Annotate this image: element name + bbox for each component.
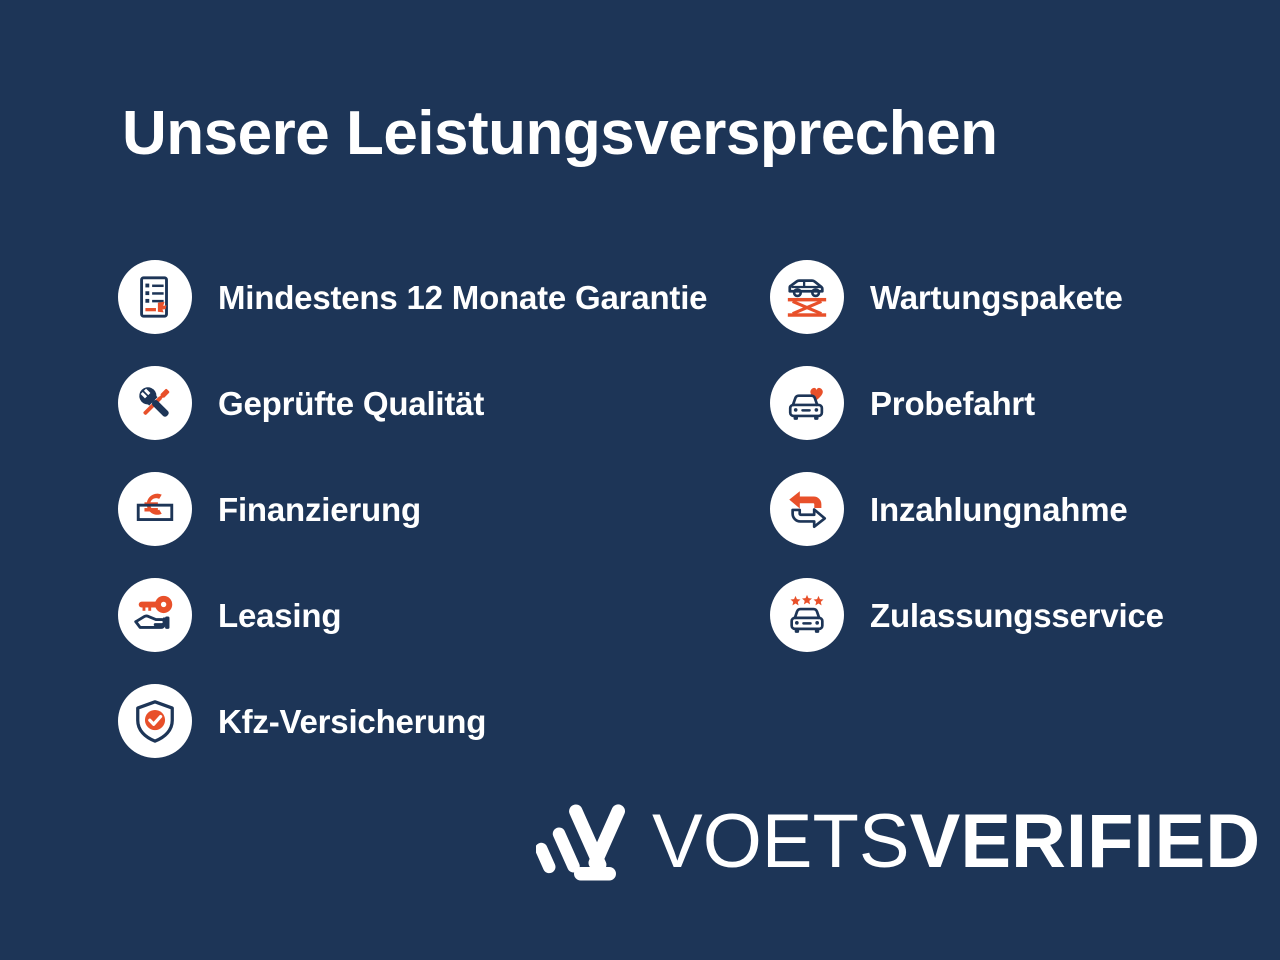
feature-item-probefahrt[interactable]: Probefahrt	[770, 364, 1230, 442]
euro-banknote-icon	[132, 486, 178, 532]
feature-item-leasing[interactable]: Leasing	[118, 576, 738, 654]
badge-garantie	[118, 260, 192, 334]
document-wrench-icon	[132, 274, 178, 320]
feature-grid: Mindestens 12 Monate Garantie	[0, 258, 1280, 788]
shield-check-icon	[132, 698, 178, 744]
feature-label-finanzierung: Finanzierung	[218, 493, 421, 526]
badge-inzahlungnahme	[770, 472, 844, 546]
feature-column-left: Mindestens 12 Monate Garantie	[118, 258, 738, 788]
car-lift-icon	[784, 274, 830, 320]
brand-wordmark-verified: VERIFIED	[910, 799, 1261, 884]
brand-wordmark-voets: VOETS	[652, 799, 910, 884]
badge-zulassungsservice	[770, 578, 844, 652]
feature-item-qualitaet[interactable]: Geprüfte Qualität	[118, 364, 738, 442]
badge-finanzierung	[118, 472, 192, 546]
badge-qualitaet	[118, 366, 192, 440]
feature-label-zulassungsservice: Zulassungsservice	[870, 599, 1164, 632]
feature-label-inzahlungnahme: Inzahlungnahme	[870, 493, 1128, 526]
brand-wordmark: VOETSVERIFIED	[652, 804, 1260, 880]
feature-label-leasing: Leasing	[218, 599, 341, 632]
exchange-arrows-icon	[784, 486, 830, 532]
badge-versicherung	[118, 684, 192, 758]
feature-label-probefahrt: Probefahrt	[870, 387, 1035, 420]
brand-logo: VOETSVERIFIED	[536, 796, 1260, 888]
voets-v-checkmark-icon	[536, 796, 628, 888]
badge-wartungspakete	[770, 260, 844, 334]
promo-poster: Unsere Leistungsversprechen	[0, 0, 1280, 960]
feature-label-qualitaet: Geprüfte Qualität	[218, 387, 484, 420]
page-title: Unsere Leistungsversprechen	[122, 103, 1182, 165]
feature-item-wartungspakete[interactable]: Wartungspakete	[770, 258, 1230, 336]
car-three-stars-icon	[784, 592, 830, 638]
feature-item-inzahlungnahme[interactable]: Inzahlungnahme	[770, 470, 1230, 548]
feature-label-wartungspakete: Wartungspakete	[870, 281, 1123, 314]
badge-probefahrt	[770, 366, 844, 440]
feature-item-zulassungsservice[interactable]: Zulassungsservice	[770, 576, 1230, 654]
feature-label-garantie: Mindestens 12 Monate Garantie	[218, 281, 707, 314]
feature-item-garantie[interactable]: Mindestens 12 Monate Garantie	[118, 258, 738, 336]
feature-item-finanzierung[interactable]: Finanzierung	[118, 470, 738, 548]
wrench-screwdriver-icon	[132, 380, 178, 426]
feature-label-versicherung: Kfz-Versicherung	[218, 705, 486, 738]
feature-column-right: Wartungspakete	[770, 258, 1230, 788]
badge-leasing	[118, 578, 192, 652]
key-in-hand-icon	[132, 592, 178, 638]
feature-item-versicherung[interactable]: Kfz-Versicherung	[118, 682, 738, 760]
car-heart-icon	[784, 380, 830, 426]
